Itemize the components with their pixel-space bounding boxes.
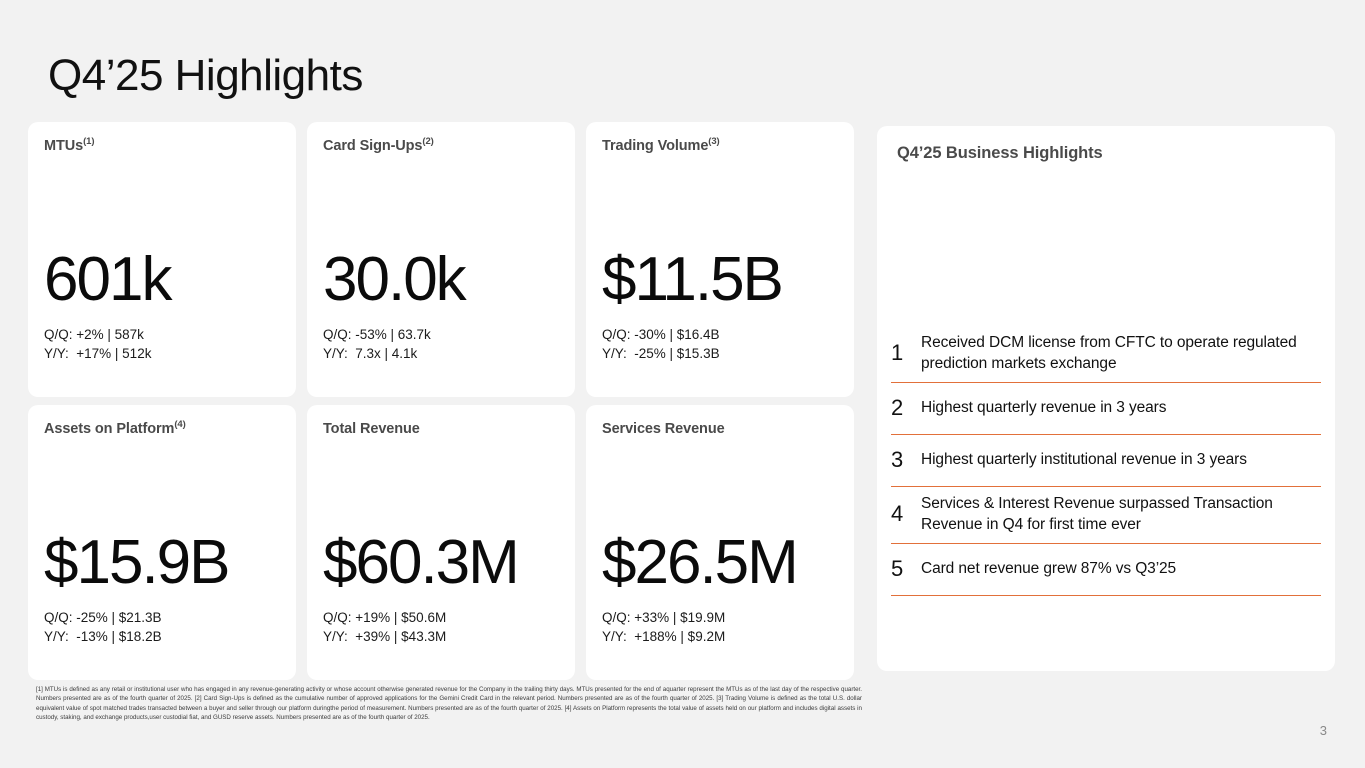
kpi-title: Assets on Platform(4) [44,421,280,438]
kpi-subs: Q/Q: +2% | 587k Y/Y: +17% | 512k [44,325,280,363]
kpi-sub-yy: Y/Y: +17% | 512k [44,344,280,363]
kpi-card-card-sign-ups: Card Sign-Ups(2) 30.0k Q/Q: -53% | 63.7k… [307,122,575,397]
kpi-sub-yy: Y/Y: 7.3x | 4.1k [323,344,559,363]
kpi-title-label: Total Revenue [323,421,420,437]
highlight-number: 2 [891,397,921,419]
highlight-number: 4 [891,503,921,525]
kpi-subs: Q/Q: +33% | $19.9M Y/Y: +188% | $9.2M [602,608,838,646]
kpi-card-total-revenue: Total Revenue $60.3M Q/Q: +19% | $50.6M … [307,405,575,680]
highlight-number: 5 [891,558,921,580]
kpi-footnote-ref: (2) [422,136,433,147]
kpi-card-trading-volume: Trading Volume(3) $11.5B Q/Q: -30% | $16… [586,122,854,397]
kpi-value: 30.0k [323,249,559,311]
kpi-value: $26.5M [602,532,838,594]
highlight-number: 3 [891,449,921,471]
list-item: 4 Services & Interest Revenue surpassed … [891,487,1321,544]
kpi-subs: Q/Q: -53% | 63.7k Y/Y: 7.3x | 4.1k [323,325,559,363]
kpi-sub-qq: Q/Q: +19% | $50.6M [323,608,559,627]
highlights-panel-title: Q4’25 Business Highlights [897,144,1317,163]
kpi-value: 601k [44,249,280,311]
kpi-footnote-ref: (3) [708,136,719,147]
kpi-sub-yy: Y/Y: -25% | $15.3B [602,344,838,363]
list-item: 2 Highest quarterly revenue in 3 years [891,383,1321,435]
kpi-sub-qq: Q/Q: -25% | $21.3B [44,608,280,627]
highlight-text: Highest quarterly revenue in 3 years [921,397,1166,418]
kpi-sub-qq: Q/Q: +2% | 587k [44,325,280,344]
footnotes: [1] MTUs is defined as any retail or ins… [36,685,862,723]
kpi-title: MTUs(1) [44,138,280,155]
kpi-sub-qq: Q/Q: -30% | $16.4B [602,325,838,344]
list-item: 1 Received DCM license from CFTC to oper… [891,326,1321,383]
kpi-grid: MTUs(1) 601k Q/Q: +2% | 587k Y/Y: +17% |… [28,122,854,680]
kpi-value: $11.5B [602,249,838,311]
kpi-title: Total Revenue [323,421,559,438]
kpi-card-assets-on-platform: Assets on Platform(4) $15.9B Q/Q: -25% |… [28,405,296,680]
list-item: 3 Highest quarterly institutional revenu… [891,435,1321,487]
business-highlights-panel: Q4’25 Business Highlights 1 Received DCM… [877,126,1335,671]
kpi-footnote-ref: (4) [174,419,185,430]
kpi-subs: Q/Q: -30% | $16.4B Y/Y: -25% | $15.3B [602,325,838,363]
kpi-sub-yy: Y/Y: +188% | $9.2M [602,627,838,646]
kpi-title-label: Assets on Platform [44,421,174,437]
kpi-title: Services Revenue [602,421,838,438]
kpi-title-label: Card Sign-Ups [323,138,422,154]
kpi-title: Card Sign-Ups(2) [323,138,559,155]
kpi-title-label: MTUs [44,138,83,154]
highlight-number: 1 [891,342,921,364]
kpi-value: $15.9B [44,532,280,594]
kpi-title-label: Trading Volume [602,138,708,154]
list-item: 5 Card net revenue grew 87% vs Q3’25 [891,544,1321,596]
kpi-sub-qq: Q/Q: -53% | 63.7k [323,325,559,344]
slide-root: Q4’25 Highlights MTUs(1) 601k Q/Q: +2% |… [0,0,1365,768]
kpi-card-services-revenue: Services Revenue $26.5M Q/Q: +33% | $19.… [586,405,854,680]
kpi-subs: Q/Q: -25% | $21.3B Y/Y: -13% | $18.2B [44,608,280,646]
highlight-text: Card net revenue grew 87% vs Q3’25 [921,558,1176,579]
kpi-sub-qq: Q/Q: +33% | $19.9M [602,608,838,627]
kpi-footnote-ref: (1) [83,136,94,147]
page-title: Q4’25 Highlights [48,52,363,100]
highlights-list: 1 Received DCM license from CFTC to oper… [891,326,1321,596]
page-number: 3 [1320,723,1327,738]
highlight-text: Received DCM license from CFTC to operat… [921,332,1321,374]
kpi-subs: Q/Q: +19% | $50.6M Y/Y: +39% | $43.3M [323,608,559,646]
kpi-title: Trading Volume(3) [602,138,838,155]
kpi-title-label: Services Revenue [602,421,725,437]
highlight-text: Highest quarterly institutional revenue … [921,449,1247,470]
kpi-value: $60.3M [323,532,559,594]
kpi-sub-yy: Y/Y: +39% | $43.3M [323,627,559,646]
highlight-text: Services & Interest Revenue surpassed Tr… [921,493,1321,535]
kpi-sub-yy: Y/Y: -13% | $18.2B [44,627,280,646]
kpi-card-mtus: MTUs(1) 601k Q/Q: +2% | 587k Y/Y: +17% |… [28,122,296,397]
